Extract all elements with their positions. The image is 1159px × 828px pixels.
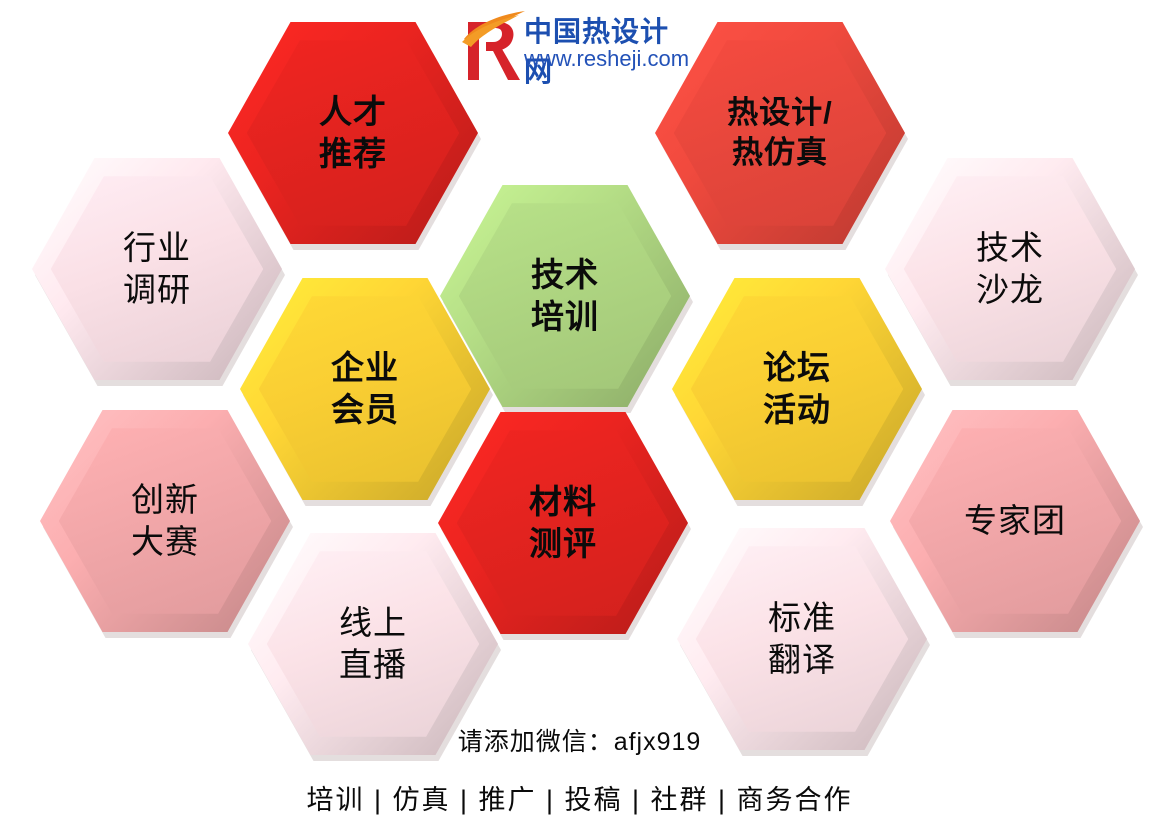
hexagon-label-line: 培训	[531, 296, 599, 338]
hexagon-label-line: 大赛	[131, 521, 199, 563]
hexagon-label-line: 企业	[331, 347, 399, 389]
hexagon-tech-salon[interactable]: 技术沙龙	[885, 158, 1135, 380]
hexagon-label: 技术沙龙	[885, 158, 1135, 380]
hexagon-label-line: 活动	[763, 389, 831, 431]
hexagon-label-line: 会员	[331, 389, 399, 431]
hexagon-label: 专家团	[890, 410, 1140, 632]
hexagon-label: 标准翻译	[677, 528, 927, 750]
hexagon-thermal-design-simulation[interactable]: 热设计/热仿真	[655, 22, 905, 244]
hexagon-label: 热设计/热仿真	[655, 22, 905, 244]
hexagon-label-line: 创新	[131, 479, 199, 521]
hexagon-label-line: 测评	[529, 523, 597, 565]
hexagon-label-line: 论坛	[763, 347, 831, 389]
hexagon-standard-translation[interactable]: 标准翻译	[677, 528, 927, 750]
services-list-caption: 培训 | 仿真 | 推广 | 投稿 | 社群 | 商务合作	[0, 778, 1159, 817]
hexagon-label-line: 技术	[976, 227, 1044, 269]
hexagon-label-line: 线上	[339, 602, 407, 644]
hexagon-label-line: 调研	[123, 269, 191, 311]
hexagon-expert-team[interactable]: 专家团	[890, 410, 1140, 632]
hexagon-label-line: 热仿真	[732, 133, 828, 173]
honeycomb-diagram: 人才推荐热设计/热仿真行业调研技术沙龙技术培训企业会员论坛活动创新大赛专家团材料…	[0, 0, 1159, 828]
hexagon-label: 材料测评	[438, 412, 688, 634]
hexagon-material-evaluation[interactable]: 材料测评	[438, 412, 688, 634]
hexagon-label-line: 沙龙	[976, 269, 1044, 311]
hexagon-label-line: 翻译	[768, 639, 836, 681]
hexagon-label-line: 行业	[123, 227, 191, 269]
hexagon-label-line: 标准	[768, 597, 836, 639]
hexagon-label: 论坛活动	[672, 278, 922, 500]
hexagon-tech-training[interactable]: 技术培训	[440, 185, 690, 407]
logo-site-url: www.resheji.com	[524, 46, 689, 72]
hexagon-label-line: 专家团	[964, 500, 1066, 542]
hexagon-label-line: 技术	[531, 254, 599, 296]
hexagon-label-line: 人才	[319, 91, 387, 133]
hexagon-label-line: 材料	[529, 481, 597, 523]
hexagon-label-line: 直播	[339, 644, 407, 686]
hexagon-label: 技术培训	[440, 185, 690, 407]
logo-r-mark	[462, 8, 526, 86]
wechat-contact-caption: 请添加微信：afjx919	[0, 722, 1159, 758]
hexagon-forum-activity[interactable]: 论坛活动	[672, 278, 922, 500]
site-logo: 中国热设计网 www.resheji.com	[462, 8, 692, 90]
hexagon-label-line: 热设计/	[727, 93, 833, 133]
hexagon-label-line: 推荐	[319, 133, 387, 175]
